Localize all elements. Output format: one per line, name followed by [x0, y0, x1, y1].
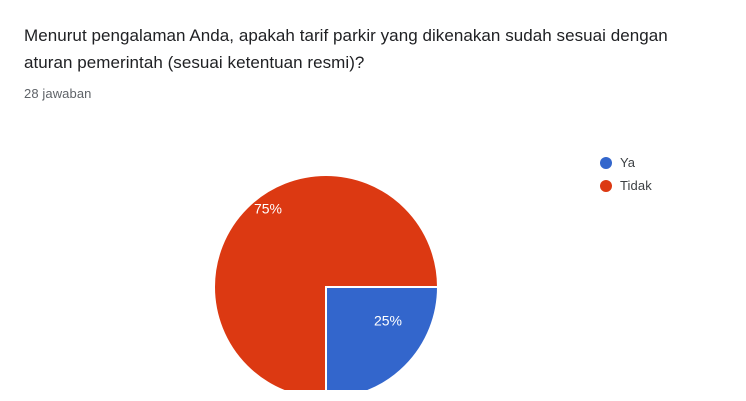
question-title: Menurut pengalaman Anda, apakah tarif pa… [24, 22, 684, 76]
legend-swatch-tidak-icon [600, 180, 612, 192]
legend-label-tidak: Tidak [620, 178, 652, 194]
pie-slice-ya[interactable] [326, 287, 438, 390]
legend-label-ya: Ya [620, 155, 635, 171]
legend-swatch-ya-icon [600, 157, 612, 169]
chart-legend: Ya Tidak [600, 151, 730, 197]
legend-item-ya[interactable]: Ya [600, 151, 730, 174]
pie-chart: 75% 25% [200, 140, 460, 390]
pie-slice-label-ya: 25% [374, 313, 402, 329]
question-header: Menurut pengalaman Anda, apakah tarif pa… [24, 22, 684, 102]
pie-chart-svg: 75% 25% [200, 140, 460, 390]
question-result-card: Menurut pengalaman Anda, apakah tarif pa… [0, 0, 746, 401]
legend-item-tidak[interactable]: Tidak [600, 174, 730, 197]
response-count: 28 jawaban [24, 85, 684, 102]
pie-chart-area: 75% 25% Ya Tidak [0, 120, 746, 401]
pie-slice-label-tidak: 75% [254, 201, 282, 217]
